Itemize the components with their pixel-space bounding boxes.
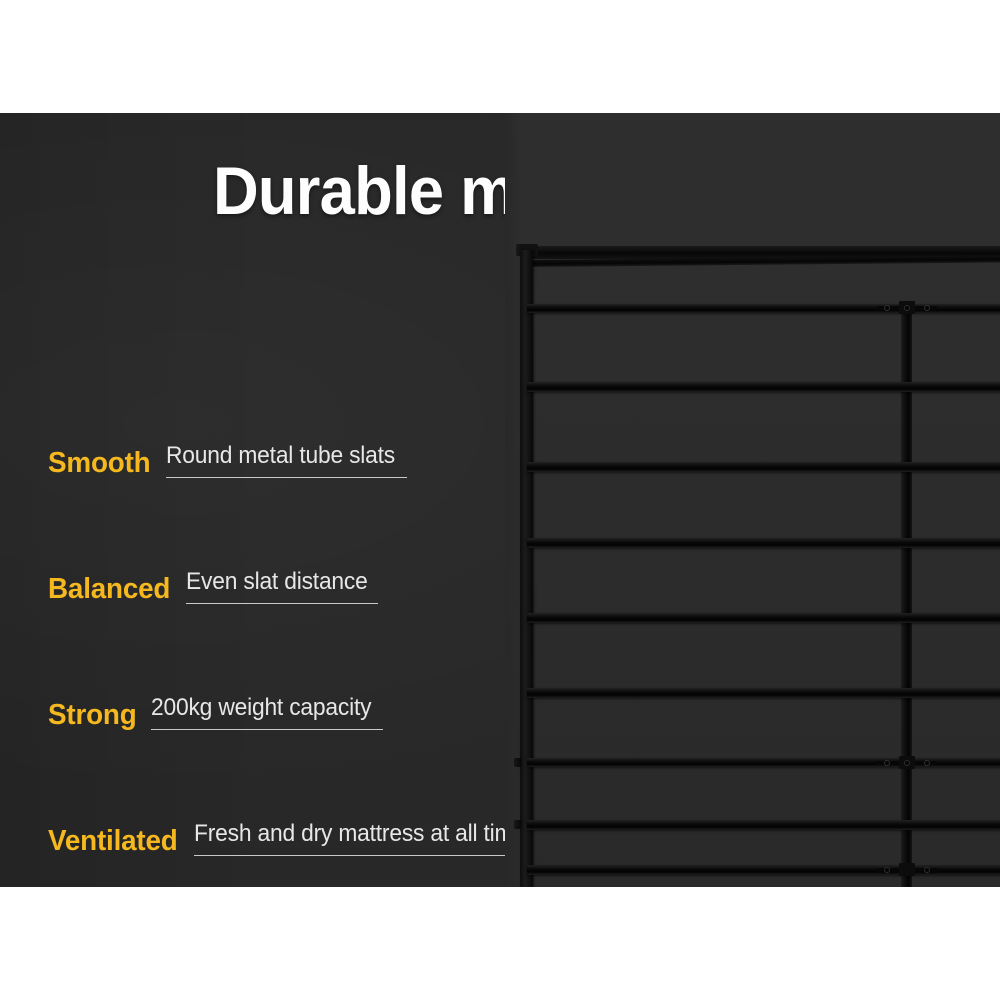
bolt-icon <box>924 760 930 766</box>
feature-description-underline: Fresh and dry mattress at all times <box>194 820 555 856</box>
bolt-bracket <box>877 863 937 876</box>
feature-description: Even slat distance <box>186 568 368 596</box>
feature-term: Strong <box>48 700 137 730</box>
bolt-icon <box>884 760 890 766</box>
bolt-icon <box>884 305 890 311</box>
feature-description: Fresh and dry mattress at all times <box>194 820 537 848</box>
bolt-icon <box>924 867 930 873</box>
bolt-icon <box>884 867 890 873</box>
feature-term: Balanced <box>48 574 170 604</box>
image-canvas: Durable metal slats Smooth Round metal t… <box>0 0 1000 1000</box>
feature-description-underline: Round metal tube slats <box>166 442 407 478</box>
metal-slat <box>527 613 1000 623</box>
photo-backdrop <box>505 113 1000 887</box>
product-photo-bed-frame <box>505 113 1000 887</box>
metal-slat <box>527 462 1000 472</box>
feature-description: 200kg weight capacity <box>151 694 371 722</box>
slat-clip <box>514 820 522 829</box>
feature-description-underline: 200kg weight capacity <box>151 694 383 730</box>
slat-clip <box>514 758 522 767</box>
feature-description: Round metal tube slats <box>166 442 395 470</box>
bolt-bracket <box>877 756 937 769</box>
metal-slat <box>527 820 1000 830</box>
metal-slat <box>527 382 1000 392</box>
metal-slat <box>527 688 1000 698</box>
bolt-icon <box>904 760 910 766</box>
bolt-icon <box>904 305 910 311</box>
feature-description-underline: Even slat distance <box>186 568 377 604</box>
frame-left-post <box>520 250 533 887</box>
bracket-plate <box>899 863 915 876</box>
metal-slat <box>527 538 1000 548</box>
feature-term: Smooth <box>48 448 150 478</box>
feature-term: Ventilated <box>48 826 178 856</box>
bolt-icon <box>924 305 930 311</box>
bolt-bracket <box>877 301 937 314</box>
